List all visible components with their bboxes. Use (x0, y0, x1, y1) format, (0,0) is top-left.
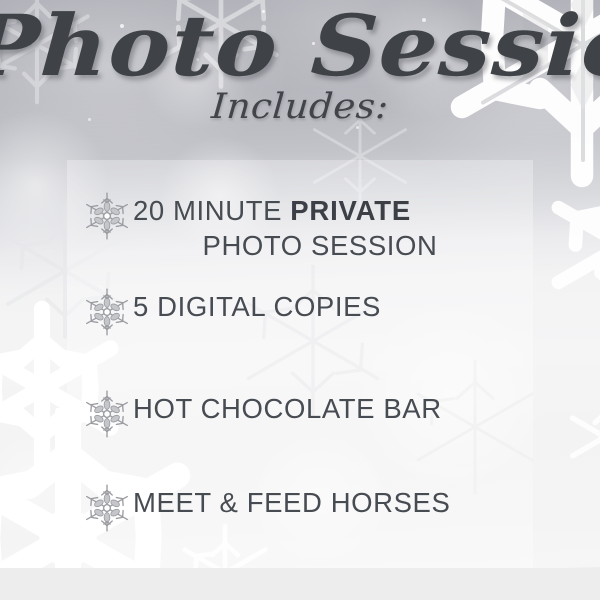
snowflake-icon (81, 388, 133, 440)
list-item-text: MEET & FEED HORSES (133, 480, 533, 520)
bottom-band (0, 568, 600, 600)
snowflake-icon (81, 286, 133, 338)
list-item: 5 DIGITAL COPIES (67, 284, 533, 338)
page-title: Photo Session (0, 4, 600, 88)
list-item-emphasis: PRIVATE (290, 195, 411, 226)
title-block: Photo Session Includes: (0, 4, 600, 125)
photo-session-poster: Photo Session Includes: (0, 0, 600, 600)
list-item-text: HOT CHOCOLATE BAR (133, 386, 533, 426)
list-item: MEET & FEED HORSES (67, 480, 533, 534)
subtitle-includes: Includes: (0, 90, 600, 125)
list-item-line1-prefix: 20 MINUTE (133, 195, 290, 226)
list-item-text: 5 DIGITAL COPIES (133, 284, 533, 324)
snowflake-icon (81, 190, 133, 242)
list-item-text: 20 MINUTE PRIVATE PHOTO SESSION (133, 188, 533, 263)
list-item-line2: PHOTO SESSION (133, 228, 533, 263)
snowflake-icon (81, 482, 133, 534)
list-item: HOT CHOCOLATE BAR (67, 386, 533, 440)
list-item: 20 MINUTE PRIVATE PHOTO SESSION (67, 188, 533, 263)
